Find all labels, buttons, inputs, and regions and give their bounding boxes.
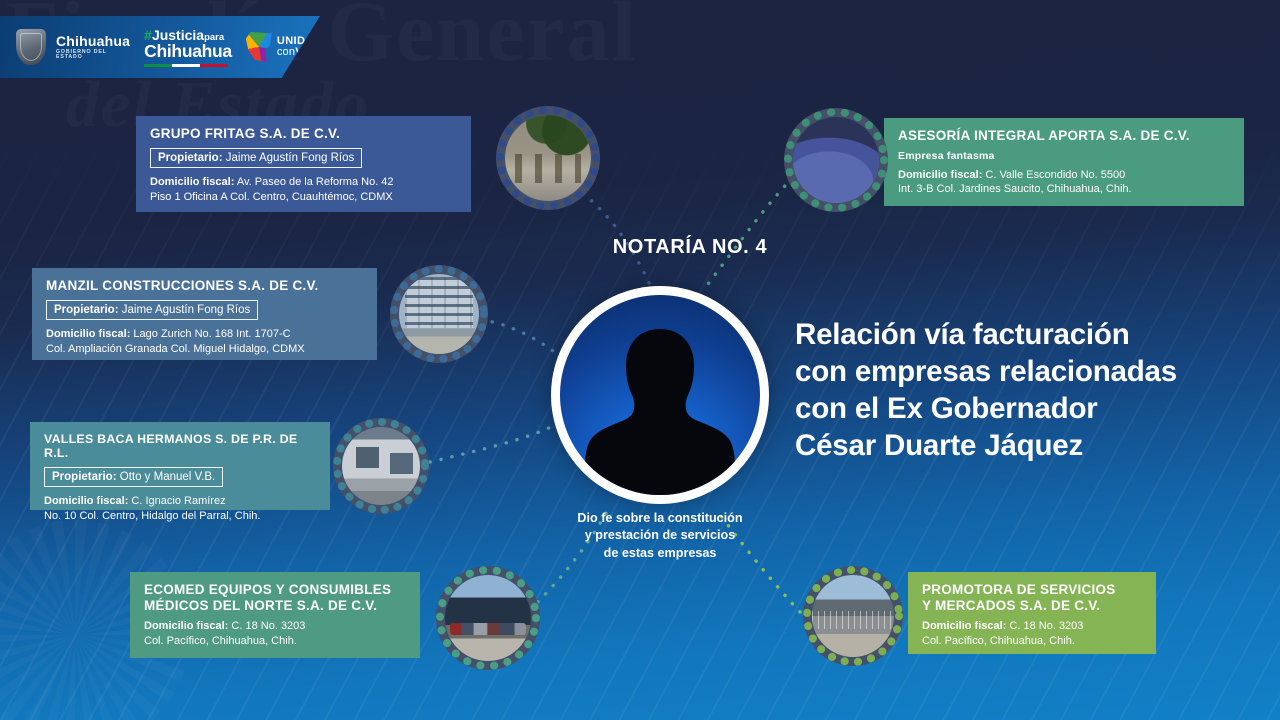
card-title: VALLES BACA HERMANOS S. DE P.R. DE R.L. (44, 432, 316, 461)
headline-line-2: con empresas relacionadas (795, 353, 1265, 390)
card-owner: Propietario: Otto y Manuel V.B. (44, 467, 223, 487)
unidos-con: con (277, 46, 295, 58)
owner-value: Otto y Manuel V.B. (120, 471, 215, 483)
photo-valles-baca-hermanos[interactable] (333, 418, 429, 514)
card-title: MANZIL CONSTRUCCIONES S.A. DE C.V. (46, 278, 363, 294)
owner-prefix-label: Propietario: (52, 471, 117, 483)
headline-line-1: Relación vía facturación (795, 316, 1265, 353)
card-title-line-2: Y MERCADOS S.A. DE C.V. (922, 598, 1100, 613)
headline-line-4: César Duarte Jáquez (795, 427, 1265, 464)
address-line-1: C. Ignacio Ramírez (131, 495, 225, 507)
address-line-2: Col. Pacífico, Chihuahua, Chih. (922, 635, 1075, 647)
photo-ecomed-equipos[interactable] (436, 566, 540, 670)
address-prefix-label: Domicilio fiscal: (150, 176, 234, 188)
card-title: ECOMED EQUIPOS Y CONSUMIBLES MÉDICOS DEL… (144, 582, 406, 613)
infographic-canvas: Fiscalía General del Estado Chihuahua GO… (0, 0, 1280, 720)
card-ghost-company-label: Empresa fantasma (898, 150, 1230, 162)
card-ecomed-equipos[interactable]: ECOMED EQUIPOS Y CONSUMIBLES MÉDICOS DEL… (130, 572, 420, 658)
address-line-1: C. 18 No. 3203 (1009, 620, 1083, 632)
card-address: Domicilio fiscal: Lago Zurich No. 168 In… (46, 327, 363, 356)
address-line-2: Piso 1 Oficina A Col. Centro, Cuauhtémoc… (150, 191, 393, 203)
owner-prefix-label: Propietario: (158, 152, 223, 164)
card-manzil-construcciones[interactable]: MANZIL CONSTRUCCIONES S.A. DE C.V. Propi… (32, 268, 377, 360)
justicia-campaign-logo: #Justiciapara Chihuahua (144, 28, 232, 67)
card-promotora-servicios-mercados[interactable]: PROMOTORA DE SERVICIOS Y MERCADOS S.A. D… (908, 572, 1156, 654)
photo-grupo-fritag[interactable] (496, 106, 600, 210)
campaign-word-chihuahua: Chihuahua (144, 43, 232, 61)
owner-value: Jaime Agustín Fong Ríos (226, 152, 354, 164)
chihuahua-shield-icon (16, 29, 46, 65)
address-line-1: C. Valle Escondido No. 5500 (985, 169, 1125, 181)
card-title-line-1: ECOMED EQUIPOS Y CONSUMIBLES (144, 582, 391, 597)
headline-line-3: con el Ex Gobernador (795, 390, 1265, 427)
gov-name: Chihuahua (56, 34, 130, 48)
caption-line-2: y prestación de servicios (525, 527, 795, 544)
chihuahua-map-icon (246, 32, 272, 62)
portrait-disc (560, 295, 760, 495)
owner-prefix-label: Propietario: (54, 304, 119, 316)
address-prefix-label: Domicilio fiscal: (44, 495, 128, 507)
card-title: ASESORÍA INTEGRAL APORTA S.A. DE C.V. (898, 128, 1230, 144)
card-title: PROMOTORA DE SERVICIOS Y MERCADOS S.A. D… (922, 582, 1142, 613)
address-prefix-label: Domicilio fiscal: (922, 620, 1006, 632)
card-title-line-2: MÉDICOS DEL NORTE S.A. DE C.V. (144, 598, 377, 613)
address-line-2: No. 10 Col. Centro, Hidalgo del Parral, … (44, 510, 260, 522)
card-address: Domicilio fiscal: C. Ignacio Ramírez No.… (44, 494, 316, 523)
card-valles-baca-hermanos[interactable]: VALLES BACA HERMANOS S. DE P.R. DE R.L. … (30, 422, 330, 510)
page-title: Relación vía facturación con empresas re… (795, 316, 1265, 465)
caption-line-3: de estas empresas (525, 545, 795, 562)
card-grupo-fritag[interactable]: GRUPO FRITAG S.A. DE C.V. Propietario: J… (136, 116, 471, 212)
portrait-caption: Dio fe sobre la constitución y prestació… (525, 510, 795, 562)
address-line-2: Int. 3-B Col. Jardines Saucito, Chihuahu… (898, 183, 1132, 195)
address-line-1: C. 18 No. 3203 (231, 620, 305, 632)
card-address: Domicilio fiscal: C. 18 No. 3203 Col. Pa… (922, 619, 1142, 648)
photo-promotora-servicios-mercados[interactable] (803, 566, 903, 666)
card-owner: Propietario: Jaime Agustín Fong Ríos (150, 148, 362, 168)
address-line-2: Col. Pacífico, Chihuahua, Chih. (144, 635, 297, 647)
brand-header-bar: Chihuahua GOBIERNO DEL ESTADO #Justiciap… (0, 16, 320, 78)
owner-value: Jaime Agustín Fong Ríos (122, 304, 250, 316)
address-prefix-label: Domicilio fiscal: (898, 169, 982, 181)
central-portrait (551, 286, 769, 504)
person-silhouette-icon (585, 321, 735, 495)
mexican-flag-rule-icon (144, 64, 228, 67)
card-address: Domicilio fiscal: C. 18 No. 3203 Col. Pa… (144, 619, 406, 648)
address-line-2: Col. Ampliación Granada Col. Miguel Hida… (46, 343, 305, 355)
card-title-line-1: PROMOTORA DE SERVICIOS (922, 582, 1116, 597)
card-owner: Propietario: Jaime Agustín Fong Ríos (46, 300, 258, 320)
card-asesoria-integral-aporta[interactable]: ASESORÍA INTEGRAL APORTA S.A. DE C.V. Em… (884, 118, 1244, 206)
card-title: GRUPO FRITAG S.A. DE C.V. (150, 126, 457, 142)
card-address: Domicilio fiscal: C. Valle Escondido No.… (898, 168, 1230, 197)
photo-asesoria-integral-aporta[interactable] (784, 108, 888, 212)
address-line-1: Av. Paseo de la Reforma No. 42 (237, 176, 394, 188)
address-prefix-label: Domicilio fiscal: (46, 328, 130, 340)
caption-line-1: Dio fe sobre la constitución (525, 510, 795, 527)
card-address: Domicilio fiscal: Av. Paseo de la Reform… (150, 175, 457, 204)
address-prefix-label: Domicilio fiscal: (144, 620, 228, 632)
photo-manzil-construcciones[interactable] (390, 265, 488, 363)
gov-subtitle: GOBIERNO DEL ESTADO (56, 50, 130, 60)
notaria-label: NOTARÍA NO. 4 (565, 236, 815, 259)
address-line-1: Lago Zurich No. 168 Int. 1707-C (133, 328, 290, 340)
government-wordmark: Chihuahua GOBIERNO DEL ESTADO (56, 34, 130, 60)
